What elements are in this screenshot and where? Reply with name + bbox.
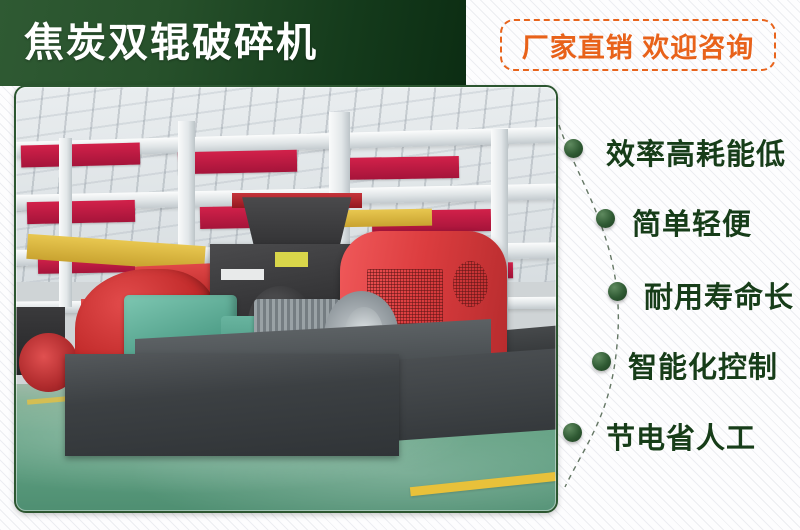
nameplate bbox=[221, 269, 264, 280]
feature-label-2: 简单轻便 bbox=[632, 201, 752, 243]
red-panel bbox=[178, 149, 297, 173]
red-panel bbox=[340, 156, 459, 180]
support-column bbox=[59, 138, 72, 308]
product-photo[interactable] bbox=[14, 85, 558, 513]
feature-label-5: 节电省人工 bbox=[606, 415, 756, 457]
machine-base-frame bbox=[65, 354, 400, 456]
feature-bullet-1 bbox=[564, 139, 583, 158]
feature-label-1: 效率高耗能低 bbox=[606, 131, 786, 173]
machine-base-right bbox=[399, 349, 556, 440]
feature-label-3: 耐用寿命长 bbox=[644, 274, 794, 316]
feature-bullet-5 bbox=[563, 423, 582, 442]
feature-label-4: 智能化控制 bbox=[628, 344, 778, 386]
feature-bullet-3 bbox=[608, 282, 627, 301]
page-title: 焦炭双辊破碎机 bbox=[24, 16, 318, 70]
warning-label bbox=[275, 252, 307, 266]
feature-bullet-2 bbox=[596, 209, 615, 228]
red-panel bbox=[27, 200, 135, 224]
promo-badge[interactable]: 厂家直销 欢迎咨询 bbox=[500, 19, 776, 71]
product-banner: 焦炭双辊破碎机 厂家直销 欢迎咨询 bbox=[0, 0, 800, 530]
red-panel bbox=[21, 143, 140, 168]
promo-badge-label: 厂家直销 欢迎咨询 bbox=[522, 26, 755, 65]
feature-bullet-4 bbox=[592, 352, 611, 371]
